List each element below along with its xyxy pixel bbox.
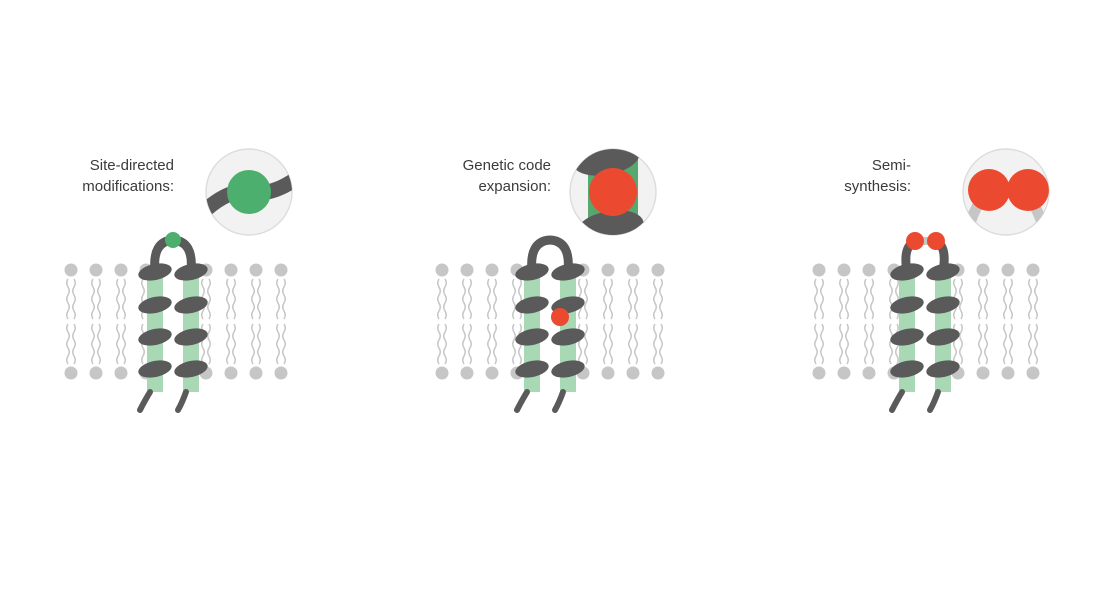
membrane-protein-labelling-figure: Site-directed modifications: xyxy=(0,0,1100,600)
probe-green xyxy=(165,232,181,248)
panel-2-label-line2: expansion: xyxy=(478,178,551,195)
panel-3-magnifier xyxy=(963,149,1049,235)
probe-sphere-green xyxy=(227,170,271,214)
probe-sphere-red-left xyxy=(968,169,1010,211)
panel-1-label-line2: modifications: xyxy=(82,178,174,195)
panel-2-label-line1: Genetic code xyxy=(463,157,551,174)
panel-3-label-line2: synthesis: xyxy=(844,178,911,195)
probe-sphere-red xyxy=(589,168,637,216)
probe-red-left xyxy=(906,232,924,250)
probe-red xyxy=(551,308,569,326)
panel-3-label-line1: Semi- xyxy=(872,157,911,174)
probe-red-right xyxy=(927,232,945,250)
panel-1-label-line1: Site-directed xyxy=(90,157,174,174)
probe-sphere-red-right xyxy=(1007,169,1049,211)
